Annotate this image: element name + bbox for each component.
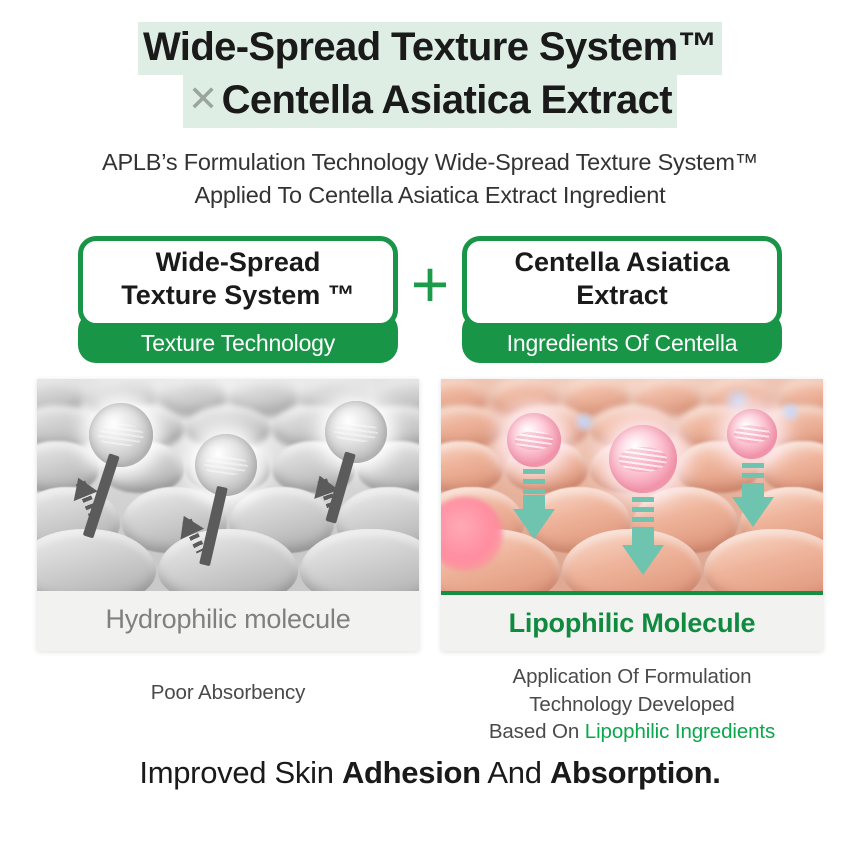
- plus-icon: +: [398, 251, 462, 317]
- badge-right-line-1: Centella Asiatica: [514, 246, 729, 279]
- subtitle-line-2: Applied To Centella Asiatica Extract Ing…: [0, 179, 860, 212]
- footnote-left: Poor Absorbency: [37, 663, 419, 745]
- molecule-pink-3: [727, 409, 777, 459]
- title-block: Wide-Spread Texture System™ ✕Centella As…: [0, 0, 860, 128]
- footnote-right-line-3: Based On Lipophilic Ingredients: [441, 718, 823, 745]
- footnote-right-line-2: Technology Developed: [441, 691, 823, 718]
- panel-lipophilic: Lipophilic Molecule: [441, 379, 823, 651]
- badge-left-line-2: Texture System ™: [121, 279, 355, 312]
- molecule-pink-1: [507, 413, 561, 467]
- badge-row: Wide-Spread Texture System ™ Texture Tec…: [0, 236, 860, 363]
- final-bold-adhesion: Adhesion: [342, 755, 481, 790]
- multiply-icon: ✕: [188, 77, 222, 121]
- lipophilic-illustration: [441, 379, 823, 591]
- final-bold-absorption: Absorption.: [550, 755, 721, 790]
- molecule-gray-3: [325, 401, 387, 463]
- subtitle-line-1: APLB’s Formulation Technology Wide-Sprea…: [0, 146, 860, 179]
- title-line-2: ✕Centella Asiatica Extract: [0, 75, 860, 128]
- final-statement: Improved Skin Adhesion And Absorption.: [0, 755, 860, 791]
- title-line-2-wrap: ✕Centella Asiatica Extract: [183, 75, 677, 128]
- badge-left-line-1: Wide-Spread: [156, 246, 321, 279]
- badge-left-card: Wide-Spread Texture System ™: [78, 236, 398, 328]
- footnote-right-line-3-green: Lipophilic Ingredients: [585, 720, 775, 743]
- cell-row-foreground: [37, 529, 419, 591]
- footnote-right-line-3-prefix: Based On: [489, 720, 585, 743]
- molecule-gray-1: [89, 403, 153, 467]
- title-line-1: Wide-Spread Texture System™: [0, 22, 860, 75]
- comparison-panels: Hydrophilic molecule: [0, 379, 860, 651]
- final-part-1: Improved Skin: [139, 755, 342, 790]
- final-part-2: And: [481, 755, 550, 790]
- footnote-right: Application Of Formulation Technology De…: [441, 663, 823, 745]
- footnote-row: Poor Absorbency Application Of Formulati…: [0, 663, 860, 745]
- panel-hydrophilic: Hydrophilic molecule: [37, 379, 419, 651]
- badge-right-line-2: Extract: [576, 279, 668, 312]
- badge-texture-technology: Wide-Spread Texture System ™ Texture Tec…: [78, 236, 398, 363]
- panel-right-caption: Lipophilic Molecule: [441, 591, 823, 651]
- badge-right-card: Centella Asiatica Extract: [462, 236, 782, 328]
- skin-surface-color: [441, 379, 823, 591]
- badge-centella-ingredient: Centella Asiatica Extract Ingredients Of…: [462, 236, 782, 363]
- hydrophilic-illustration: [37, 379, 419, 591]
- title-line-2-text: Centella Asiatica Extract: [222, 78, 672, 122]
- footnote-right-line-1: Application Of Formulation: [441, 663, 823, 690]
- skin-surface-grayscale: [37, 379, 419, 591]
- molecule-pink-2: [609, 425, 677, 493]
- title-line-1-text: Wide-Spread Texture System™: [138, 22, 722, 75]
- subtitle-block: APLB’s Formulation Technology Wide-Sprea…: [0, 146, 860, 213]
- panel-left-caption: Hydrophilic molecule: [37, 591, 419, 647]
